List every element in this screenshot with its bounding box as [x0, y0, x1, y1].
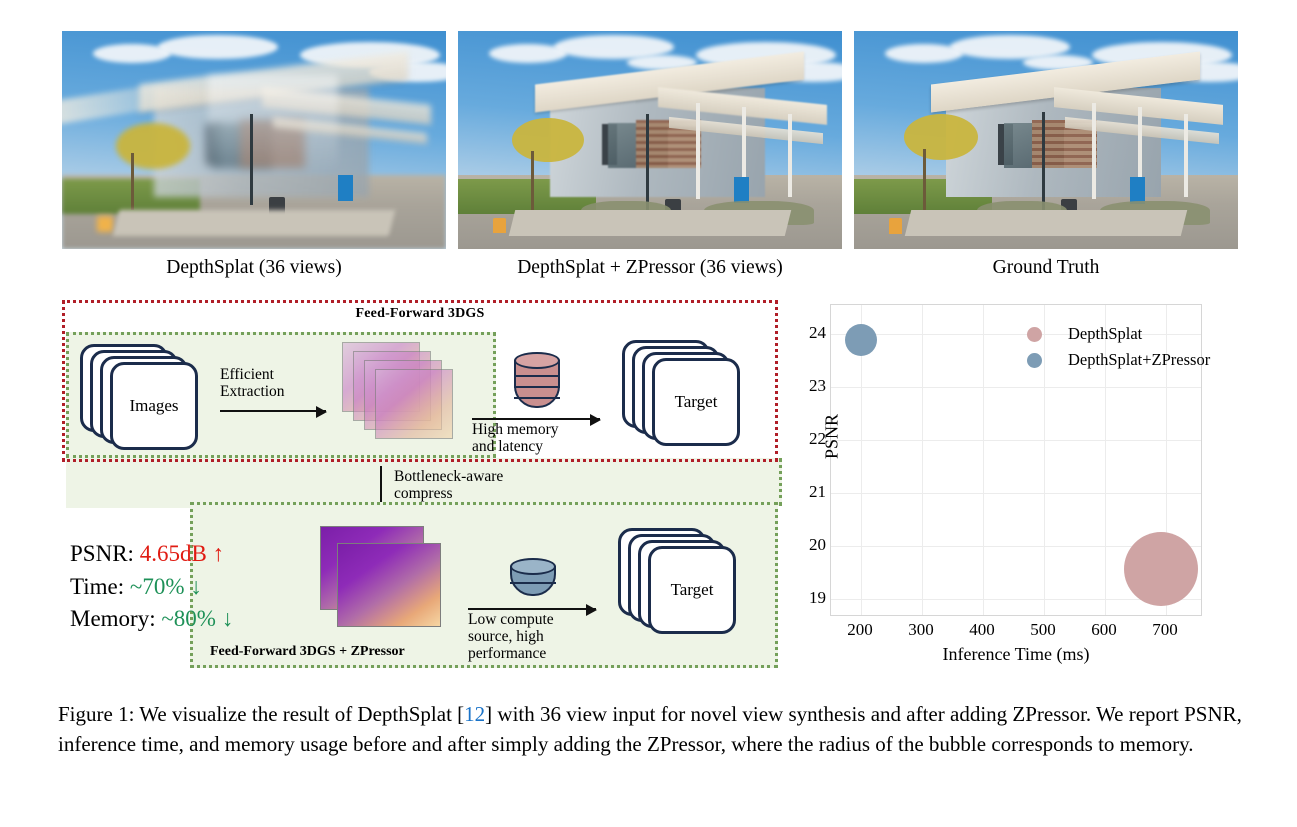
database-high-memory-icon [514, 352, 560, 412]
ytick-22: 22 [786, 429, 826, 449]
cloud [158, 35, 278, 59]
cylinder-top [510, 558, 556, 575]
blue-vending-box [734, 177, 749, 203]
target-stack-top: Target [622, 340, 746, 448]
ytick-24: 24 [786, 323, 826, 343]
xtick-200: 200 [830, 620, 890, 640]
tree-trunk [531, 151, 534, 212]
canopy-column [1184, 114, 1188, 197]
legend-label-depthsplat-zpressor: DepthSplat+ZPressor [1068, 350, 1210, 370]
cylinder-band [514, 386, 560, 388]
photo-depthsplat-zpressor-render [458, 31, 842, 249]
blue-vending-box [1130, 177, 1145, 204]
target-stack-bottom: Target [618, 528, 742, 636]
cylinder-band [510, 582, 556, 584]
canopy-column [788, 114, 792, 197]
photo-row [62, 31, 1238, 249]
feature-map-stack-pale [342, 342, 472, 448]
low-compute-label-line2: source, high [468, 628, 544, 645]
photo-depthsplat-render [62, 31, 446, 249]
target-label: Target [652, 358, 740, 446]
cylinder-band [514, 397, 560, 399]
feature-map-stack-vivid [320, 526, 446, 630]
extraction-arrow [220, 410, 326, 412]
bubble-depthsplat[interactable] [1124, 532, 1198, 606]
blue-vending-box [338, 175, 353, 201]
metric-memory: Memory: ~80% ↓ [70, 603, 233, 636]
lamp-post [250, 114, 253, 206]
gridline-y [831, 493, 1201, 494]
x-axis-label: Inference Time (ms) [830, 644, 1202, 665]
photo-caption-ground-truth: Ground Truth [854, 257, 1238, 279]
bottleneck-label-line1: Bottleneck-aware [394, 468, 503, 485]
cylinder-band [514, 375, 560, 377]
traffic-cone [97, 216, 113, 232]
walkway [508, 210, 791, 236]
low-compute-arrow [468, 608, 596, 610]
ghost-artifact [208, 75, 339, 171]
target-label: Target [648, 546, 736, 634]
chart-legend: DepthSplat DepthSplat+ZPressor [1027, 321, 1210, 373]
compressed-feature-map [337, 543, 441, 627]
metric-memory-value: ~80% [161, 606, 221, 631]
xtick-500: 500 [1013, 620, 1073, 640]
green-connector-band-left [66, 458, 190, 508]
metric-time-value: ~70% [130, 574, 190, 599]
caption-part-a: Figure 1: We visualize the result of Dep… [58, 702, 464, 726]
legend-label-depthsplat: DepthSplat [1068, 324, 1142, 344]
figure-caption: Figure 1: We visualize the result of Dep… [58, 700, 1242, 760]
low-compute-label-line3: performance [468, 645, 546, 662]
metric-psnr-label: PSNR: [70, 541, 140, 566]
lamp-post [646, 114, 649, 210]
bottleneck-label-line2: compress [394, 485, 453, 502]
high-memory-arrow [472, 418, 600, 420]
efficient-extraction-label-line2: Extraction [220, 383, 285, 400]
database-low-compute-icon [510, 558, 556, 602]
metric-psnr-arrow-icon: ↑ [213, 541, 225, 566]
efficient-extraction-label-line1: Efficient [220, 366, 274, 383]
metric-memory-arrow-icon: ↓ [222, 606, 234, 631]
canopy-column [696, 103, 700, 199]
xtick-600: 600 [1074, 620, 1134, 640]
tree-foliage [904, 114, 978, 160]
images-label: Images [110, 362, 198, 450]
photo-caption-row: DepthSplat (36 views) DepthSplat + ZPres… [62, 257, 1238, 279]
ytick-19: 19 [786, 588, 826, 608]
canopy-column [1092, 103, 1096, 199]
y-axis-label: PSNR [822, 377, 843, 497]
feed-forward-3dgs-title: Feed-Forward 3DGS [62, 306, 778, 322]
metric-psnr: PSNR: 4.65dB ↑ [70, 538, 233, 571]
feature-map [375, 369, 453, 439]
tree-foliage [512, 118, 584, 162]
legend-item-depthsplat: DepthSplat [1027, 321, 1210, 347]
plot-area: DepthSplat DepthSplat+ZPressor [830, 304, 1202, 616]
xtick-400: 400 [952, 620, 1012, 640]
ytick-21: 21 [786, 482, 826, 502]
legend-dot-depthsplat [1027, 327, 1042, 342]
traffic-cone [889, 218, 902, 234]
metric-time-arrow-icon: ↓ [190, 574, 202, 599]
metric-time: Time: ~70% ↓ [70, 571, 233, 604]
walkway [904, 210, 1187, 236]
feed-forward-zpressor-title: Feed-Forward 3DGS + ZPressor [210, 644, 405, 660]
ytick-23: 23 [786, 376, 826, 396]
photo-caption-depthsplat-zpressor: DepthSplat + ZPressor (36 views) [458, 257, 842, 279]
gridline-x [922, 305, 923, 615]
lamp-post [1042, 112, 1045, 212]
gridline-y [831, 440, 1201, 441]
bubble-depthsplat-zpressor[interactable] [845, 324, 877, 356]
ytick-20: 20 [786, 535, 826, 555]
high-memory-label-line1: High memory [472, 421, 559, 438]
walkway [112, 210, 395, 236]
legend-item-depthsplat-zpressor: DepthSplat+ZPressor [1027, 347, 1210, 373]
gridline-x [983, 305, 984, 615]
metric-memory-label: Memory: [70, 606, 161, 631]
tree-foliage [116, 123, 190, 169]
xtick-300: 300 [891, 620, 951, 640]
metrics-summary: PSNR: 4.65dB ↑ Time: ~70% ↓ Memory: ~80%… [70, 538, 233, 636]
psnr-vs-inference-time-chart: DepthSplat DepthSplat+ZPressor 24 23 22 … [790, 296, 1242, 678]
high-memory-label-line2: and latency [472, 438, 543, 455]
pipeline-diagram: Feed-Forward 3DGS Images Efficient Extra… [62, 300, 778, 668]
images-stack: Images [80, 344, 200, 448]
traffic-cone [493, 218, 506, 233]
photo-ground-truth [854, 31, 1238, 249]
tree-trunk [923, 149, 926, 214]
legend-dot-depthsplat-zpressor [1027, 353, 1042, 368]
gridline-y [831, 387, 1201, 388]
tree-trunk [131, 153, 134, 210]
xtick-700: 700 [1135, 620, 1195, 640]
low-compute-label-line1: Low compute [468, 611, 554, 628]
photo-caption-depthsplat: DepthSplat (36 views) [62, 257, 446, 279]
citation-link-12[interactable]: 12 [464, 702, 485, 726]
metric-time-label: Time: [70, 574, 130, 599]
cylinder-top [514, 352, 560, 369]
metric-psnr-value: 4.65dB [140, 541, 213, 566]
